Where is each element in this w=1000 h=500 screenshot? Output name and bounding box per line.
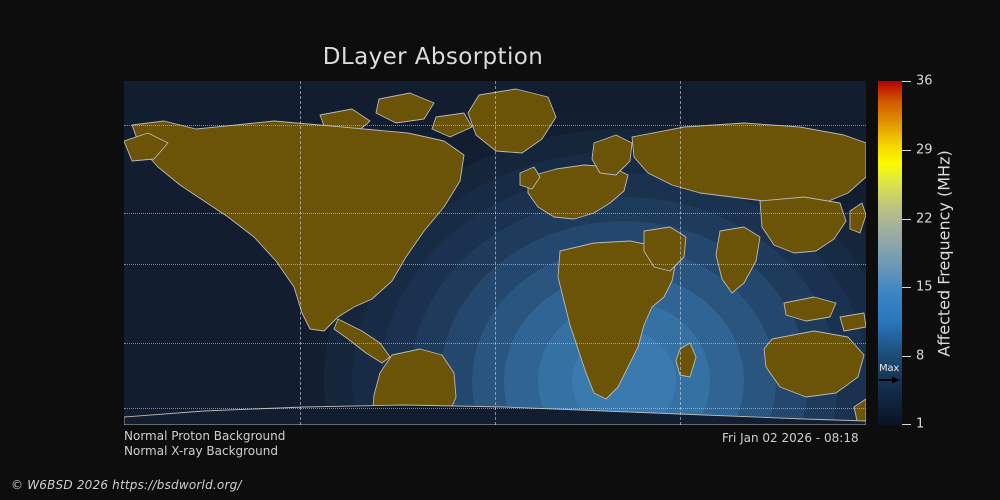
plot-canvas: DLayer Absorption: [0, 0, 1000, 500]
timestamp-label: Fri Jan 02 2026 - 08:18: [722, 431, 859, 445]
colorbar-max-marker: Max: [878, 364, 902, 386]
colorbar-tick-label: 1: [916, 417, 924, 432]
colorbar-tick-label: 29: [916, 143, 933, 158]
page-title: DLayer Absorption: [0, 44, 866, 70]
status-annotations: Normal Proton Background Normal X-ray Ba…: [124, 429, 285, 459]
colorbar-tick: [902, 424, 911, 425]
colorbar-tick: [902, 219, 911, 220]
footer-credit: © W6BSD 2026 https://bsdworld.org/: [11, 478, 242, 492]
proton-status-text: Normal Proton Background: [124, 429, 285, 444]
colorbar-tick-label: 15: [916, 280, 933, 295]
colorbar-tick: [902, 150, 911, 151]
world-map-svg: [124, 81, 866, 425]
colorbar-tick: [902, 287, 911, 288]
colorbar-tick-label: 22: [916, 212, 933, 227]
colorbar-tick: [902, 81, 911, 82]
colorbar-tick-label: 36: [916, 74, 933, 89]
colorbar-axis-label: Affected Frequency (MHz): [932, 81, 956, 425]
colorbar[interactable]: Max: [878, 81, 902, 425]
colorbar-tick: [902, 356, 911, 357]
map-panel[interactable]: [124, 81, 866, 425]
arrow-right-icon: [879, 376, 900, 384]
xray-status-text: Normal X-ray Background: [124, 444, 285, 459]
colorbar-max-label: Max: [879, 363, 899, 374]
colorbar-tick-label: 8: [916, 349, 924, 364]
colorbar-axis-label-text: Affected Frequency (MHz): [935, 150, 954, 356]
